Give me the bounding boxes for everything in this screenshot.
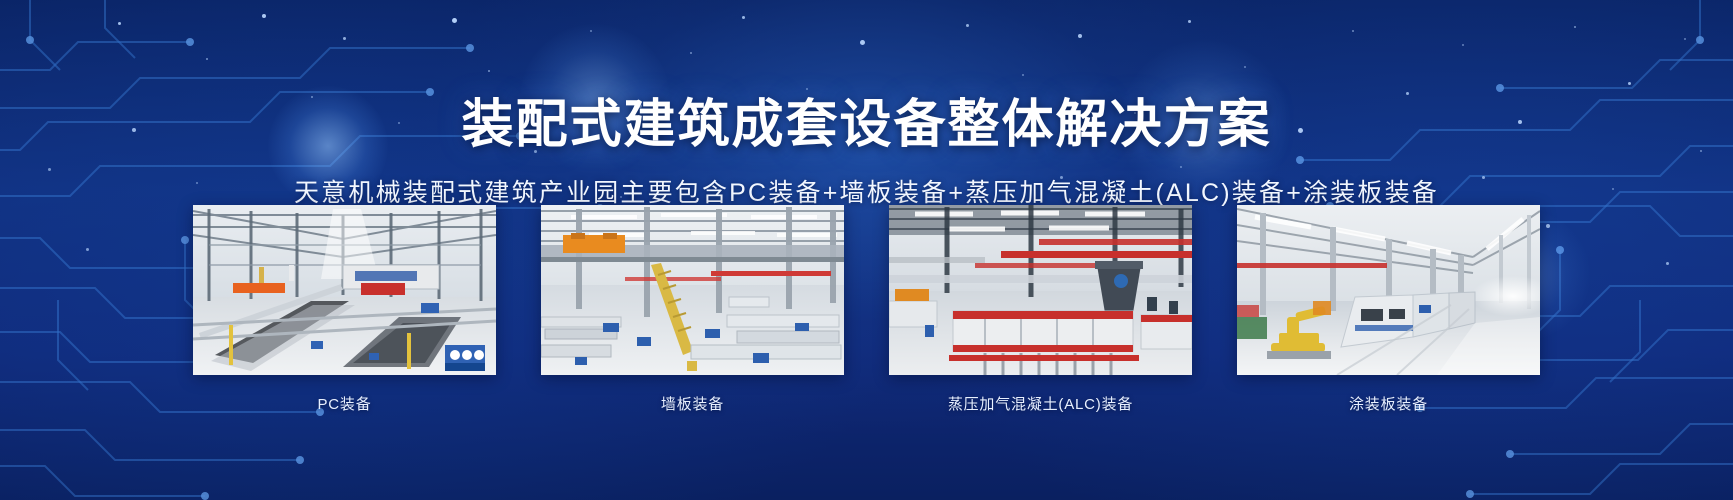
banner-subheadline: 天意机械装配式建筑产业园主要包含PC装备+墙板装备+蒸压加气混凝土(ALC)装备… (294, 178, 1439, 208)
equipment-card-caption: 蒸压加气混凝土(ALC)装备 (889, 393, 1192, 414)
equipment-card-list: PC装备 (0, 205, 1733, 414)
pc-equipment-photo[interactable] (193, 205, 496, 375)
equipment-card-caption: 墙板装备 (541, 393, 844, 414)
wall-panel-equipment-photo[interactable] (541, 205, 844, 375)
alc-equipment-photo[interactable] (889, 205, 1192, 375)
equipment-card-caption: PC装备 (193, 393, 496, 414)
equipment-card[interactable]: 蒸压加气混凝土(ALC)装备 (889, 205, 1192, 414)
equipment-card[interactable]: 涂装板装备 (1237, 205, 1540, 414)
banner-headline: 装配式建筑成套设备整体解决方案 (461, 97, 1271, 153)
equipment-card-caption: 涂装板装备 (1237, 393, 1540, 414)
coated-panel-equipment-photo[interactable] (1237, 205, 1540, 375)
promo-banner: 装配式建筑成套设备整体解决方案 天意机械装配式建筑产业园主要包含PC装备+墙板装… (0, 0, 1733, 500)
equipment-card[interactable]: PC装备 (193, 205, 496, 414)
equipment-card[interactable]: 墙板装备 (541, 205, 844, 414)
